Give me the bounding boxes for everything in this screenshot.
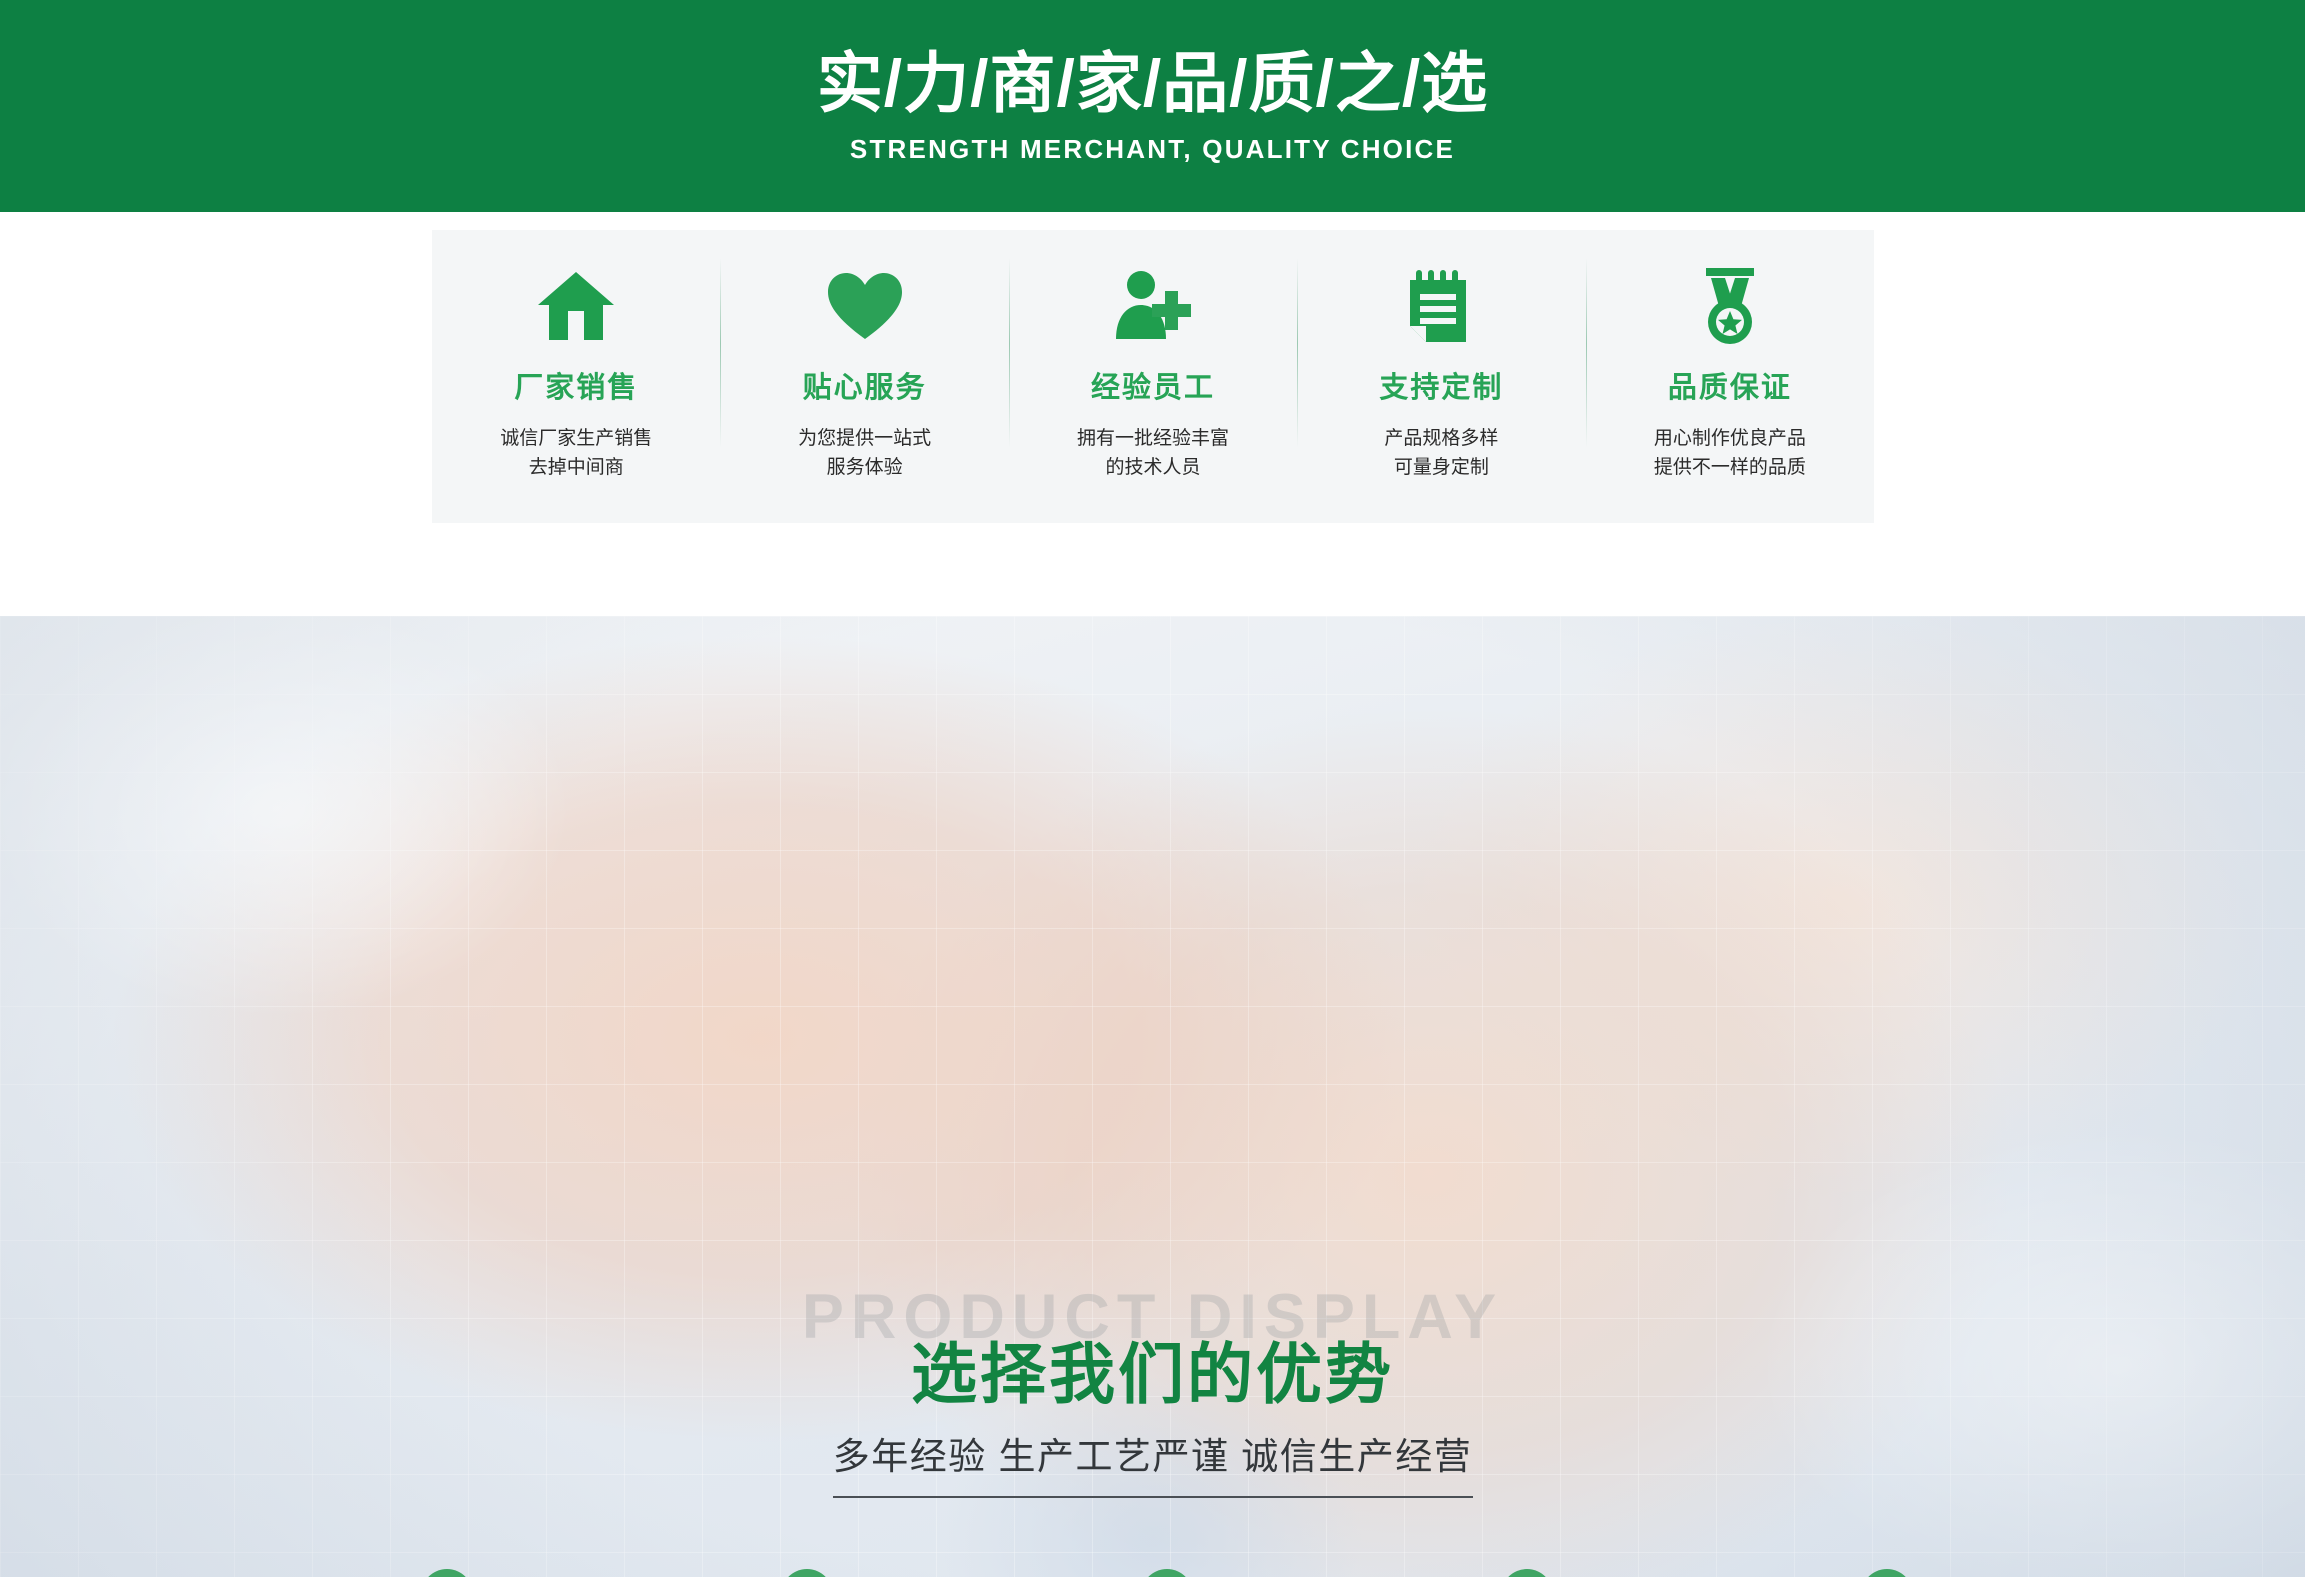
banner-title: 实/力/商/家/品/质/之/选 xyxy=(817,47,1488,120)
feature-item-quality-guarantee[interactable]: 品质保证 用心制作优良产品 提供不一样的品质 xyxy=(1586,230,1874,523)
section-subtitle: 多年经验 生产工艺严谨 诚信生产经营 xyxy=(0,1426,2305,1480)
step-marker-2[interactable]: 2 xyxy=(781,1569,833,1577)
medal-icon xyxy=(1693,264,1767,348)
feature-desc-line1: 用心制作优良产品 xyxy=(1654,428,1806,449)
feature-desc: 诚信厂家生产销售 去掉中间商 xyxy=(500,424,652,483)
feature-desc-line1: 拥有一批经验丰富 xyxy=(1077,428,1229,449)
feature-desc-line2: 服务体验 xyxy=(827,457,903,478)
features-section: 厂家销售 诚信厂家生产销售 去掉中间商 贴心服务 为您提供一站式 服务体验 xyxy=(0,212,2305,616)
feature-title: 贴心服务 xyxy=(803,364,927,406)
feature-desc-line2: 可量身定制 xyxy=(1394,457,1489,478)
heart-icon xyxy=(826,264,904,348)
feature-title: 品质保证 xyxy=(1668,364,1792,406)
user-plus-icon xyxy=(1113,264,1193,348)
notepad-icon xyxy=(1406,264,1476,348)
feature-desc-line1: 产品规格多样 xyxy=(1384,428,1498,449)
page-root: 实/力/商/家/品/质/之/选 STRENGTH MERCHANT, QUALI… xyxy=(0,0,2305,1577)
feature-desc: 用心制作优良产品 提供不一样的品质 xyxy=(1654,424,1806,483)
feature-desc: 产品规格多样 可量身定制 xyxy=(1384,424,1498,483)
feature-item-factory-sales[interactable]: 厂家销售 诚信厂家生产销售 去掉中间商 xyxy=(432,230,720,523)
feature-title: 厂家销售 xyxy=(514,364,638,406)
feature-desc-line2: 的技术人员 xyxy=(1106,457,1201,478)
banner-subtitle: STRENGTH MERCHANT, QUALITY CHOICE xyxy=(850,134,1455,165)
features-panel: 厂家销售 诚信厂家生产销售 去掉中间商 贴心服务 为您提供一站式 服务体验 xyxy=(432,230,1874,523)
feature-desc-line2: 提供不一样的品质 xyxy=(1654,457,1806,478)
step-marker-1[interactable]: 1 xyxy=(421,1569,473,1577)
title-divider xyxy=(833,1496,1473,1498)
feature-item-experienced-staff[interactable]: 经验员工 拥有一批经验丰富 的技术人员 xyxy=(1009,230,1297,523)
feature-desc: 为您提供一站式 服务体验 xyxy=(798,424,931,483)
section-title: 选择我们的优势 xyxy=(0,1321,2305,1417)
house-icon xyxy=(537,264,615,348)
feature-item-customization[interactable]: 支持定制 产品规格多样 可量身定制 xyxy=(1297,230,1585,523)
step-marker-4[interactable]: 4 xyxy=(1501,1569,1553,1577)
feature-desc-line1: 诚信厂家生产销售 xyxy=(500,428,652,449)
feature-desc: 拥有一批经验丰富 的技术人员 xyxy=(1077,424,1229,483)
feature-desc-line2: 去掉中间商 xyxy=(529,457,624,478)
step-marker-3[interactable]: 3 xyxy=(1141,1569,1193,1577)
advantage-section: PRODUCT DISPLAY 选择我们的优势 多年经验 生产工艺严谨 诚信生产… xyxy=(0,616,2305,1577)
feature-title: 经验员工 xyxy=(1091,364,1215,406)
feature-desc-line1: 为您提供一站式 xyxy=(798,428,931,449)
feature-title: 支持定制 xyxy=(1379,364,1503,406)
top-banner: 实/力/商/家/品/质/之/选 STRENGTH MERCHANT, QUALI… xyxy=(0,0,2305,212)
step-marker-5[interactable]: 5 xyxy=(1861,1569,1913,1577)
feature-item-caring-service[interactable]: 贴心服务 为您提供一站式 服务体验 xyxy=(720,230,1008,523)
